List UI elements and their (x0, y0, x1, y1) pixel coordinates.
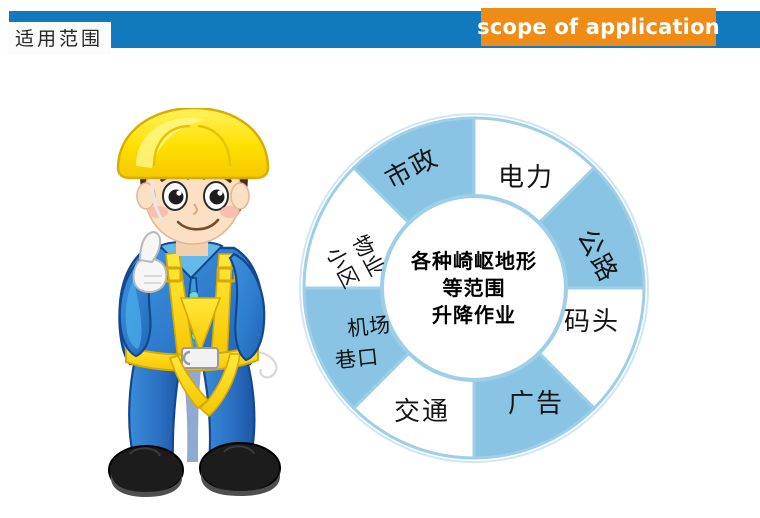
header-english-banner: scope of application (481, 8, 716, 46)
donut-label-jichang-line2: 巷口 (334, 345, 380, 373)
header-english-label: scope of application (477, 15, 720, 39)
application-scope-donut-chart: 电力 公路 码头 广告 交通 机场 巷口 小区 物业 市政 各种崎岖地形 等范围… (298, 112, 650, 464)
thumbs-up-hand (134, 232, 167, 292)
header-chinese-banner: 适用范围 (7, 22, 111, 54)
worker-illustration (78, 108, 308, 500)
worker-svg (78, 108, 308, 500)
hard-hat-icon (118, 108, 268, 178)
page-root: scope of application 适用范围 (0, 0, 760, 518)
donut-inner-hole (382, 196, 566, 380)
donut-label-guanggao: 广告 (508, 389, 564, 419)
donut-label-matou: 码头 (564, 307, 620, 337)
donut-label-jichang-line1: 机场 (346, 313, 392, 341)
donut-label-jiaotong: 交通 (394, 397, 450, 427)
donut-chart-svg: 电力 公路 码头 广告 交通 机场 巷口 小区 物业 市政 (298, 112, 650, 464)
donut-label-dianli: 电力 (498, 163, 554, 193)
header-chinese-label: 适用范围 (15, 28, 103, 50)
